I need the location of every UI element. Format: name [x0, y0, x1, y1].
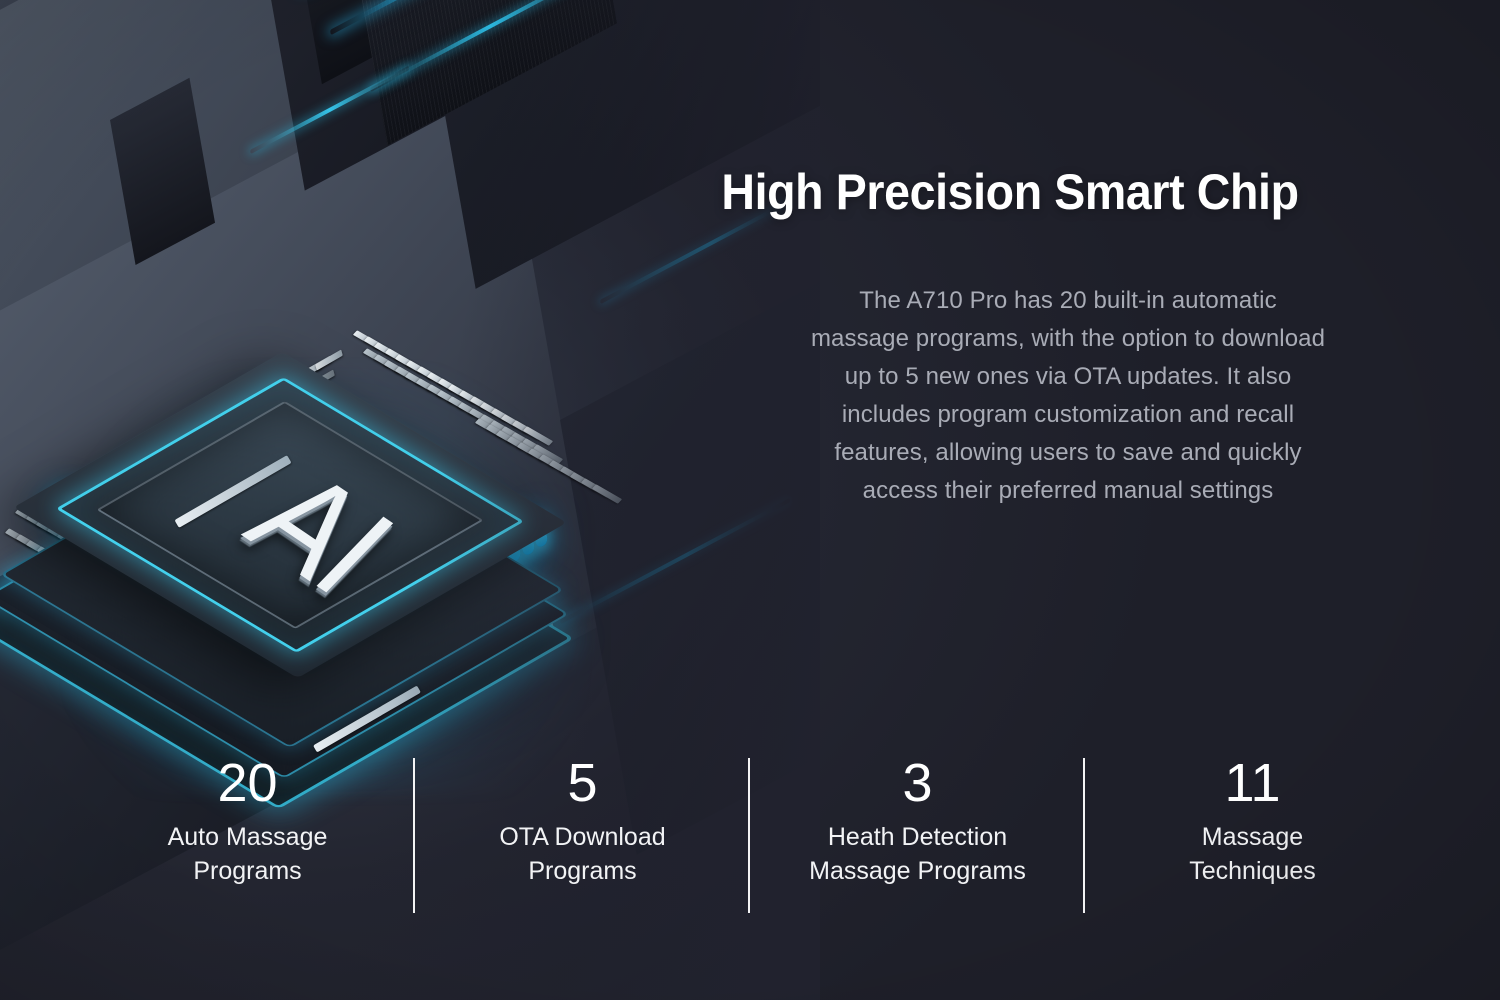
page-title: High Precision Smart Chip	[592, 165, 1429, 220]
stat-item-heath-detection-massage-programs: 3 Heath Detection Massage Programs	[750, 752, 1085, 888]
stat-label: Auto Massage Programs	[86, 820, 409, 888]
stat-item-auto-massage-programs: 20 Auto Massage Programs	[80, 752, 415, 888]
stat-value: 20	[86, 752, 409, 814]
hero-banner: AI High Precision Smart Chip The A710 Pr…	[0, 0, 1500, 1000]
stats-row: 20 Auto Massage Programs 5 OTA Download …	[80, 752, 1420, 927]
stat-label: Heath Detection Massage Programs	[756, 820, 1079, 888]
stat-value: 11	[1091, 752, 1414, 814]
stat-label: OTA Download Programs	[421, 820, 744, 888]
ai-chip-illustration: AI	[35, 215, 675, 775]
stat-label: Massage Techniques	[1091, 820, 1414, 888]
chip-pin	[591, 484, 621, 503]
stat-item-ota-download-programs: 5 OTA Download Programs	[415, 752, 750, 888]
stat-item-massage-techniques: 11 Massage Techniques	[1085, 752, 1420, 888]
stat-value: 5	[421, 752, 744, 814]
stat-value: 3	[756, 752, 1079, 814]
hero-description: The A710 Pro has 20 built-in automatic m…	[810, 282, 1326, 510]
